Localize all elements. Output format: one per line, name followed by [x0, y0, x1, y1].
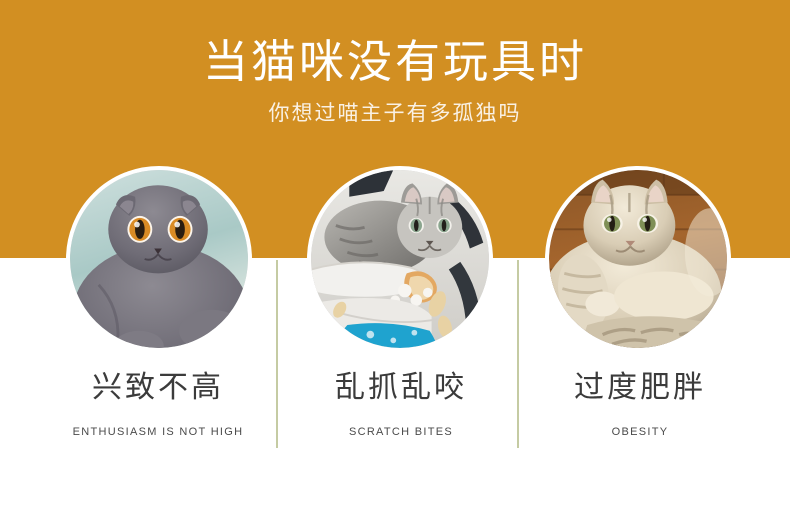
- caption-enthusiasm: 兴致不高 ENTHUSIASM IS NOT HIGH: [38, 368, 278, 439]
- caption-cn-label: 乱抓乱咬: [281, 368, 521, 408]
- caption-obesity: 过度肥胖 OBESITY: [520, 368, 760, 439]
- photo-clip: [549, 170, 727, 348]
- caption-cn-label: 兴致不高: [38, 368, 278, 408]
- photo-clip: [70, 170, 248, 348]
- caption-scratch: 乱抓乱咬 SCRATCH BITES: [281, 368, 521, 439]
- caption-cn-label: 过度肥胖: [520, 368, 760, 408]
- caption-en-label: SCRATCH BITES: [281, 425, 521, 439]
- kitten-illustration: [70, 170, 248, 348]
- page-title: 当猫咪没有玩具时: [0, 33, 790, 91]
- page-subtitle: 你想过喵主子有多孤独吗: [0, 99, 790, 129]
- overweight-tabby-cat-photo: [545, 166, 731, 352]
- grey-scottish-fold-kitten-photo: [66, 166, 252, 352]
- fat-cat-illustration: [549, 170, 727, 348]
- caption-en-label: OBESITY: [520, 425, 760, 439]
- caption-en-label: ENTHUSIASM IS NOT HIGH: [38, 425, 278, 439]
- promo-banner: 当猫咪没有玩具时 你想过喵主子有多孤独吗: [0, 0, 790, 511]
- photo-clip: [311, 170, 489, 348]
- tabby-cat-shredded-cushion-photo: [307, 166, 493, 352]
- scratching-cat-illustration: [311, 170, 489, 348]
